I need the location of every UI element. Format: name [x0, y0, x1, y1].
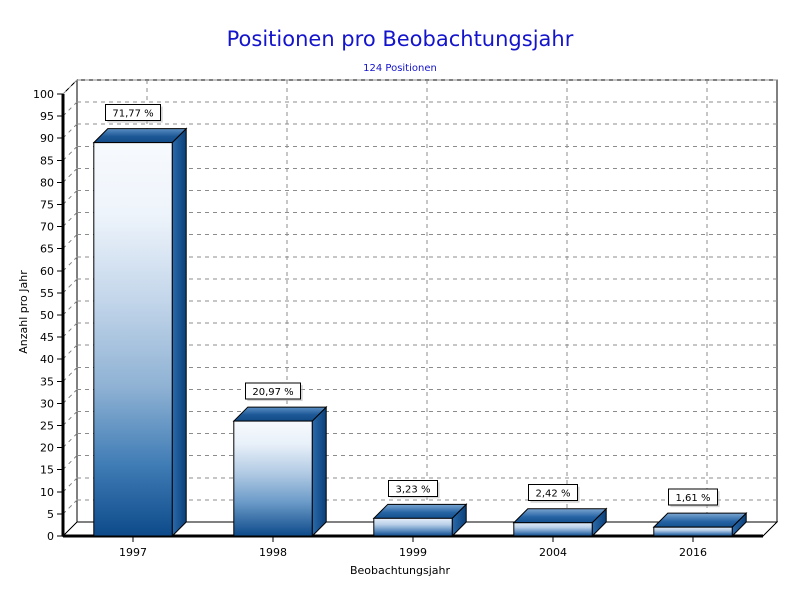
y-tick-label: 0 [47, 530, 54, 543]
y-tick-label: 60 [40, 265, 54, 278]
y-tick-label: 20 [40, 442, 54, 455]
x-tick-label: 1999 [399, 546, 427, 559]
y-tick-label: 25 [40, 420, 54, 433]
bar-top-face [514, 509, 606, 523]
bar-1997[interactable] [94, 129, 186, 536]
bar-front-face [654, 527, 732, 536]
data-label-text: 2,42 % [536, 489, 571, 500]
y-tick-label: 35 [40, 375, 54, 388]
data-label-text: 71,77 % [112, 109, 153, 120]
bar-top-face [654, 513, 746, 527]
data-label-2016: 1,61 % [668, 489, 719, 507]
y-tick-label: 65 [40, 243, 54, 256]
y-tick-label: 50 [40, 309, 54, 322]
y-axis-title: Anzahl pro Jahr [17, 270, 30, 354]
y-tick-label: 85 [40, 154, 54, 167]
bar-1999[interactable] [374, 504, 466, 536]
x-tick-label: 1998 [259, 546, 287, 559]
chart-container: Positionen pro Beobachtungsjahr 124 Posi… [0, 0, 800, 600]
bar-side-face [172, 129, 186, 536]
bar-2016[interactable] [654, 513, 746, 536]
y-tick-label: 10 [40, 486, 54, 499]
y-tick-label: 75 [40, 199, 54, 212]
data-label-2004: 2,42 % [528, 485, 579, 503]
x-tick-label: 2004 [539, 546, 567, 559]
bar-top-face [374, 504, 466, 518]
y-tick-label: 80 [40, 176, 54, 189]
data-label-text: 20,97 % [252, 387, 293, 398]
bar-front-face [234, 421, 312, 536]
y-tick-label: 40 [40, 353, 54, 366]
x-tick-label: 2016 [679, 546, 707, 559]
y-tick-label: 45 [40, 331, 54, 344]
data-label-1998: 20,97 % [245, 383, 302, 401]
bar-top-face [94, 129, 186, 143]
data-label-text: 1,61 % [676, 493, 711, 504]
y-tick-label: 95 [40, 110, 54, 123]
y-tick-label: 55 [40, 287, 54, 300]
y-tick-label: 90 [40, 132, 54, 145]
bar-top-face [234, 407, 326, 421]
bar-front-face [94, 143, 172, 536]
bar-1998[interactable] [234, 407, 326, 536]
y-tick-label: 70 [40, 221, 54, 234]
bar-front-face [514, 523, 592, 536]
y-tick-label: 30 [40, 397, 54, 410]
x-tick-label: 1997 [119, 546, 147, 559]
chart-subtitle: 124 Positionen [363, 63, 437, 74]
bar-2004[interactable] [514, 509, 606, 536]
bar-chart-3d: Positionen pro Beobachtungsjahr 124 Posi… [0, 0, 800, 600]
data-label-1997: 71,77 % [105, 105, 162, 123]
chart-title: Positionen pro Beobachtungsjahr [227, 27, 574, 51]
y-tick-label: 15 [40, 464, 54, 477]
data-label-1999: 3,23 % [388, 480, 439, 498]
y-tick-label: 5 [47, 508, 54, 521]
data-label-text: 3,23 % [396, 484, 431, 495]
bar-front-face [374, 518, 452, 536]
bar-side-face [312, 407, 326, 536]
x-axis-title: Beobachtungsjahr [350, 564, 451, 577]
y-tick-label: 100 [33, 88, 54, 101]
